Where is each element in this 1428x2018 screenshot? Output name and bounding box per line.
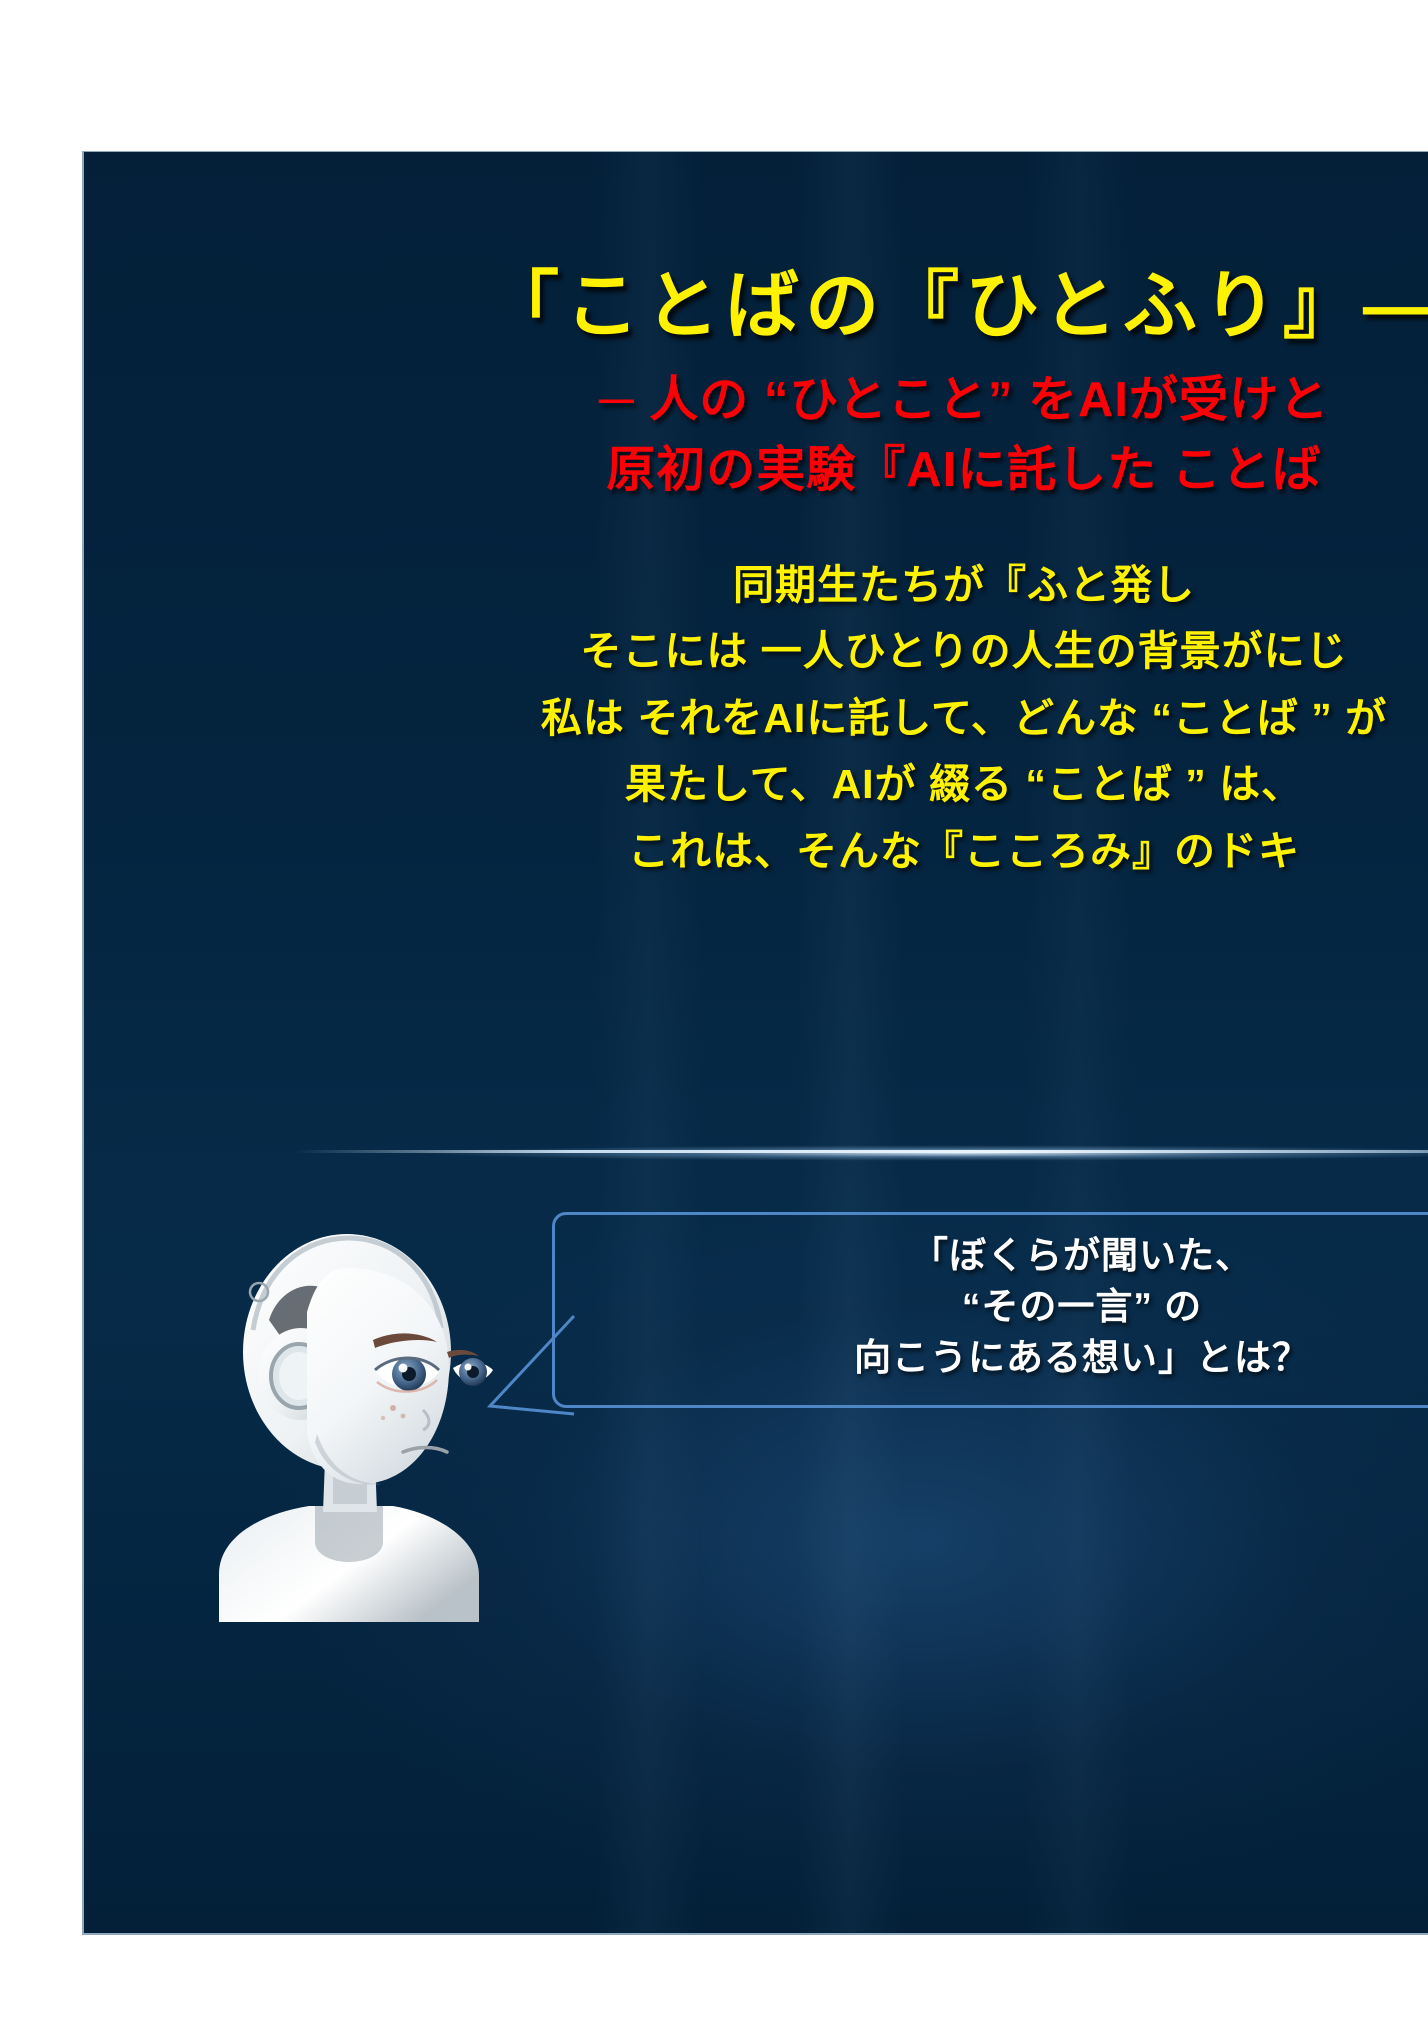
speech-bubble-text: 「ぼくらが聞いた、 “その一言” の 向こうにある想い」とは？	[552, 1230, 1428, 1383]
glow-divider-core	[294, 1150, 1428, 1153]
body-line-5: これは、そんな『こころみ』のドキ	[84, 818, 1428, 884]
screenshot-canvas: 「ことばの『ひとふり』— ─ 人の “ひとこと” をAIが受けと 原初の実験『A…	[0, 0, 1428, 2018]
body-line-2: そこには 一人ひとりの人生の背景がにじ	[84, 618, 1428, 684]
slide-body-text: 同期生たちが『ふと発し そこには 一人ひとりの人生の背景がにじ 私は それをAI…	[84, 552, 1428, 884]
presentation-slide: 「ことばの『ひとふり』— ─ 人の “ひとこと” をAIが受けと 原初の実験『A…	[82, 151, 1428, 1935]
bubble-line-1: 「ぼくらが聞いた、	[552, 1230, 1428, 1281]
slide-title: 「ことばの『ひとふり』—	[84, 246, 1428, 353]
body-line-3: 私は それをAIに託して、どんな “ことば ” が	[84, 685, 1428, 751]
bubble-line-3: 向こうにある想い」とは？	[552, 1332, 1428, 1383]
body-line-1: 同期生たちが『ふと発し	[84, 552, 1428, 618]
subtitle-line-2: 原初の実験『AIに託した ことば	[84, 436, 1428, 506]
bubble-line-2: “その一言” の	[552, 1281, 1428, 1332]
subtitle-line-1: ─ 人の “ひとこと” をAIが受けと	[84, 366, 1428, 436]
body-line-4: 果たして、AIが 綴る “ことば ” は、	[84, 751, 1428, 817]
robot-illustration	[197, 1202, 497, 1622]
glow-divider	[234, 1140, 1428, 1166]
slide-subtitle: ─ 人の “ひとこと” をAIが受けと 原初の実験『AIに託した ことば	[84, 366, 1428, 505]
